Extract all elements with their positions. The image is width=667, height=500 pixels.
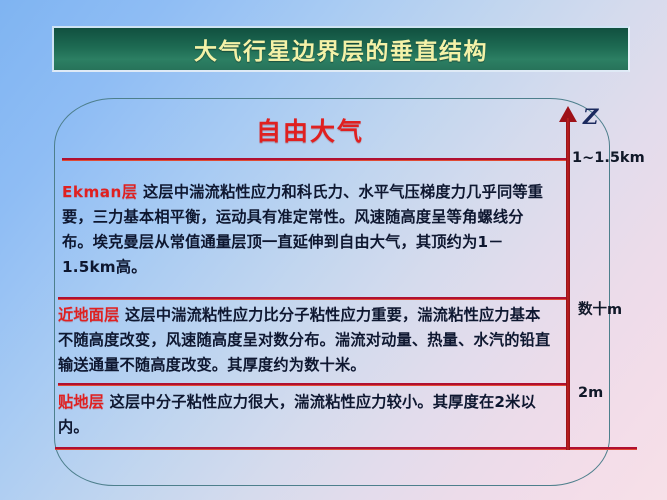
layer-body-surface: 这层中湍流粘性应力比分子粘性应力重要，湍流粘性应力基本不随高度改变，风速随高度呈… xyxy=(58,306,550,374)
layer-name-ground: 贴地层 xyxy=(58,393,104,411)
divider-line-ground-base xyxy=(55,447,637,450)
slide-title-text: 大气行星边界层的垂直结构 xyxy=(194,32,488,66)
divider-line-ground-top xyxy=(58,383,570,386)
z-axis-label: Z xyxy=(583,104,598,129)
slide-title-bar: 大气行星边界层的垂直结构 xyxy=(52,26,630,72)
axis-tick-ekman-top: 1~1.5km xyxy=(572,150,645,166)
layer-description-ekman: Ekman层 这层中湍流粘性应力和科氏力、水平气压梯度力几乎同等重要，三力基本相… xyxy=(62,180,554,280)
layer-name-ekman: Ekman层 xyxy=(62,183,138,201)
layer-description-surface: 近地面层 这层中湍流粘性应力比分子粘性应力重要，湍流粘性应力基本不随高度改变，风… xyxy=(58,303,554,378)
divider-line-surface-top xyxy=(58,297,570,300)
layer-description-ground: 贴地层 这层中分子粘性应力很大，湍流粘性应力较小。其厚度在2米以内。 xyxy=(58,390,554,440)
axis-tick-surface-layer-top: 数十m xyxy=(578,298,622,319)
slide-canvas: 大气行星边界层的垂直结构 自由大气 Z 1~1.5km 数十m 2m Ekman… xyxy=(0,0,667,500)
axis-tick-ground-layer-top: 2m xyxy=(578,385,603,401)
divider-line-ekman-top xyxy=(62,158,570,161)
z-axis-line xyxy=(566,118,570,450)
free-atmosphere-label: 自由大气 xyxy=(0,112,620,148)
layer-body-ground: 这层中分子粘性应力很大，湍流粘性应力较小。其厚度在2米以内。 xyxy=(58,393,536,436)
layer-name-surface: 近地面层 xyxy=(58,306,120,324)
